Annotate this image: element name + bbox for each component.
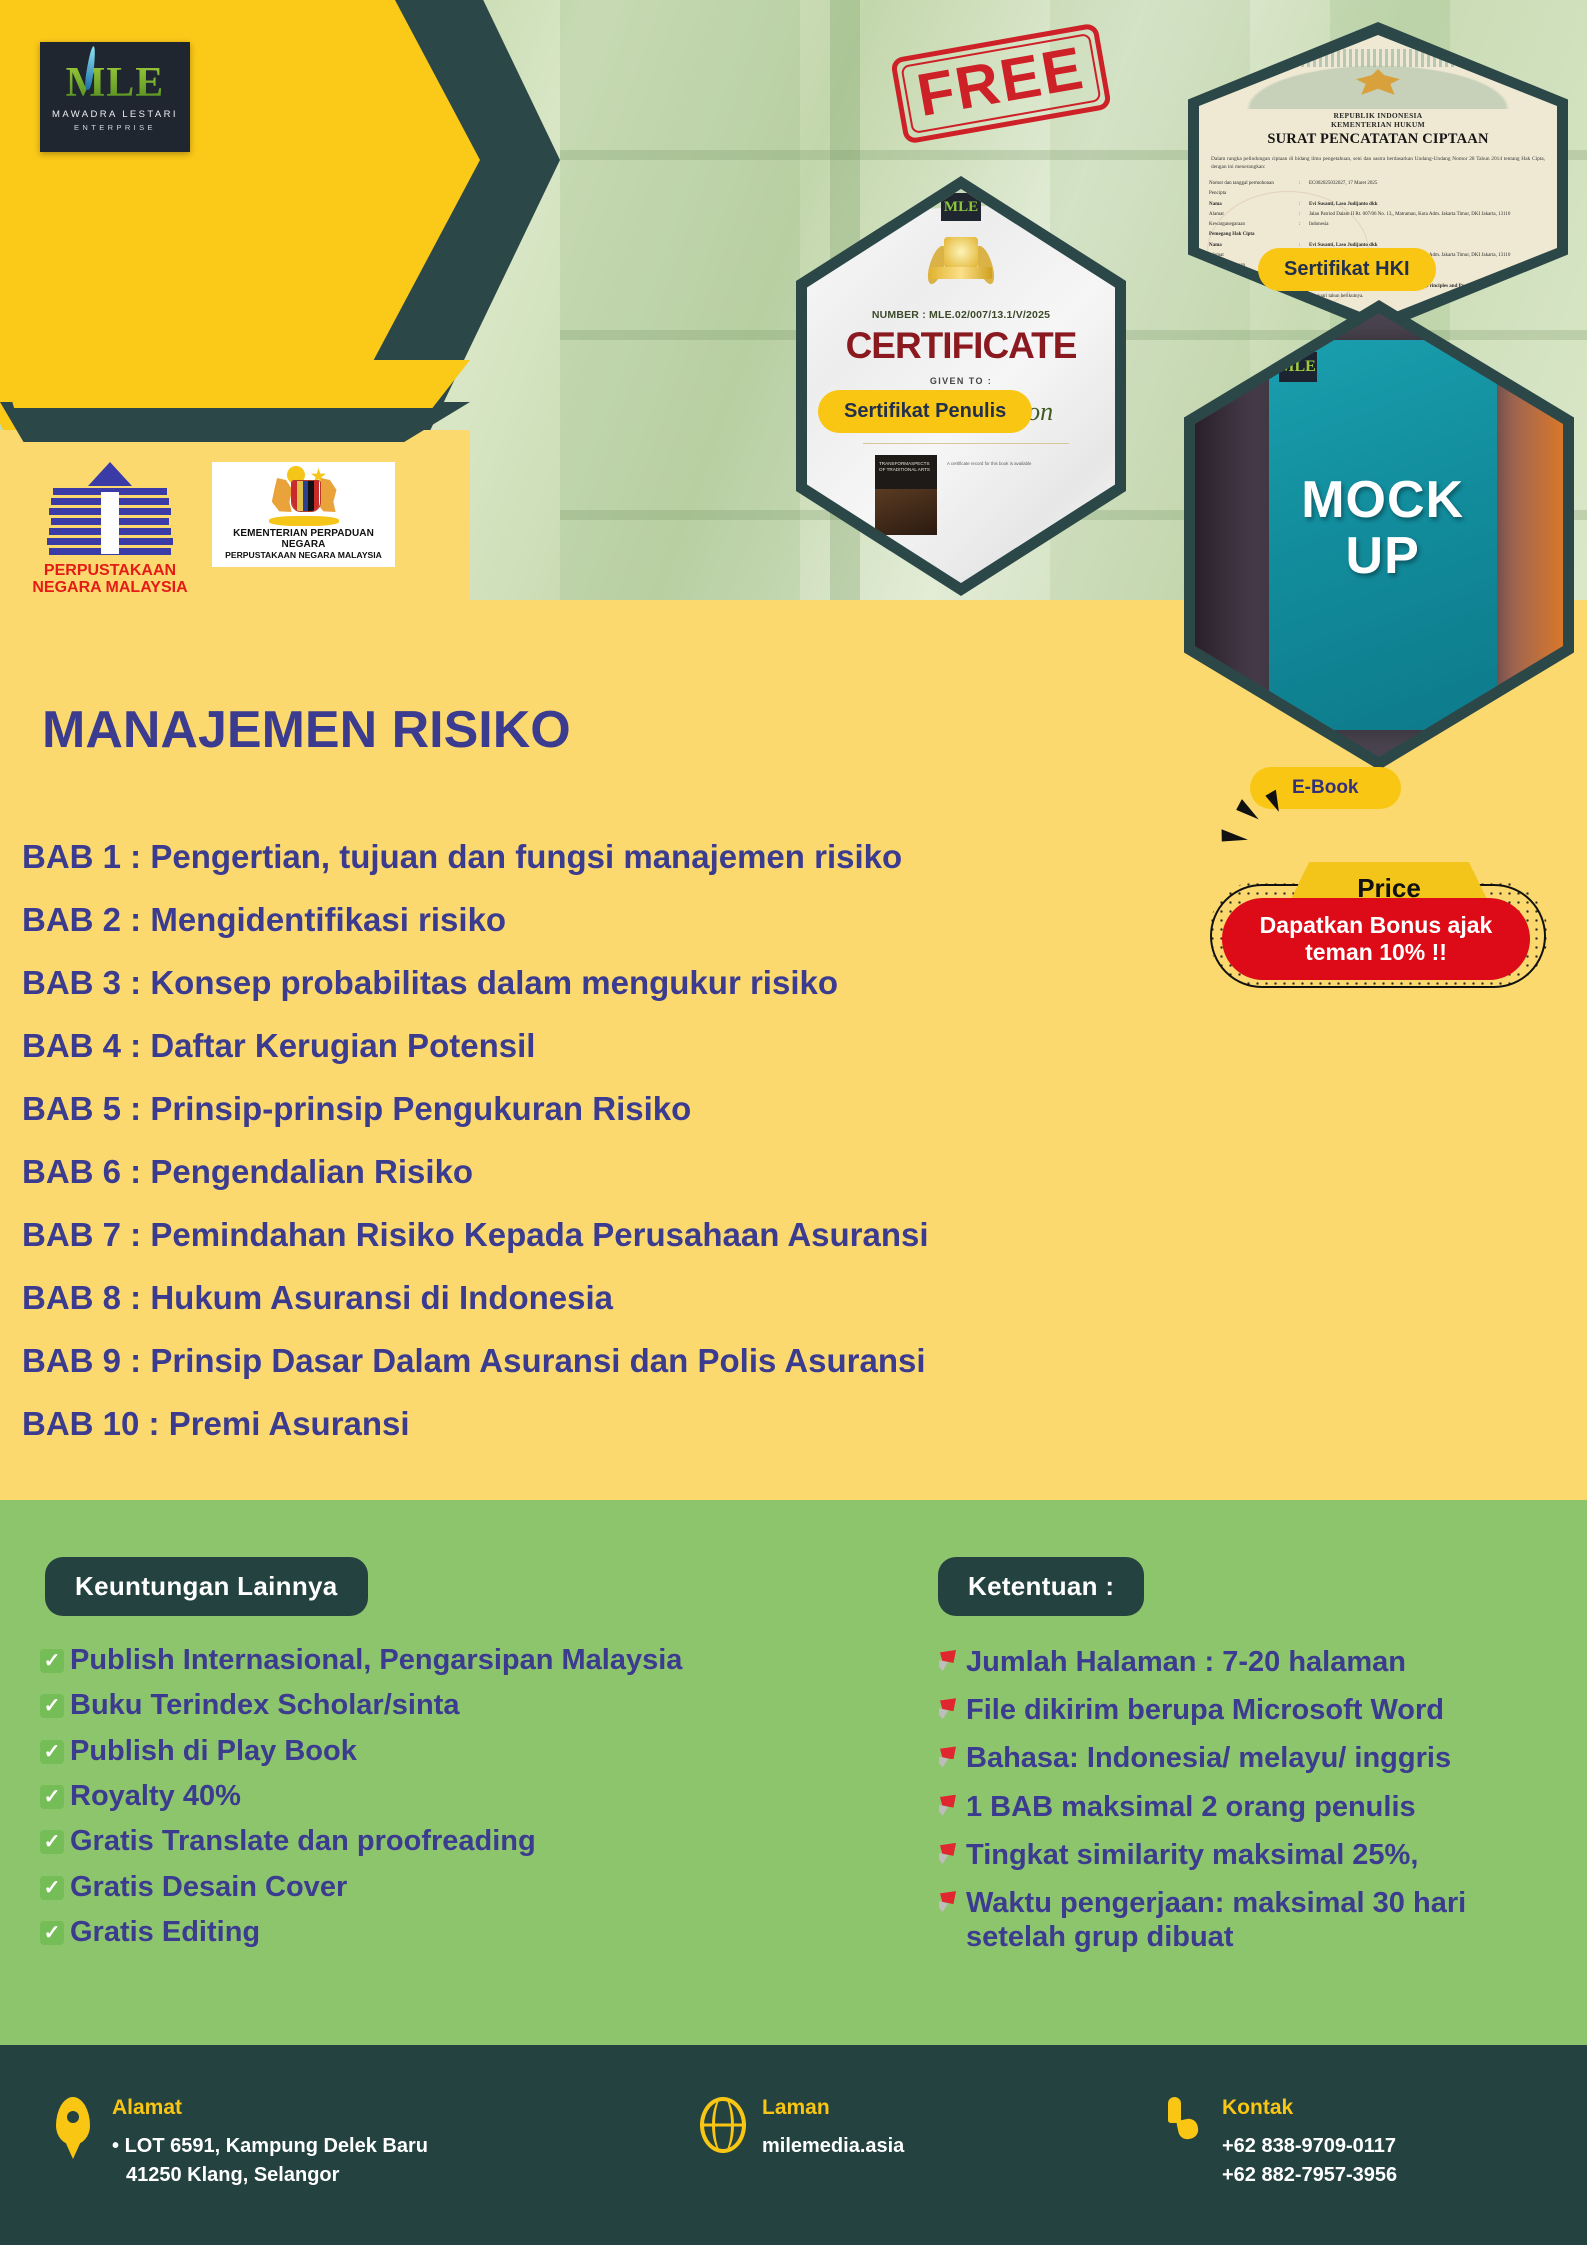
term-item: Waktu pengerjaan: maksimal 30 hari setel… xyxy=(936,1886,1566,1954)
hki-row-colon: : xyxy=(1299,202,1305,209)
benefit-item: ✓Gratis Editing xyxy=(40,1917,860,1948)
certificate-logo: MLE xyxy=(941,193,981,221)
hki-detail-row: Pemegang Hak Cipta xyxy=(1209,232,1547,239)
term-item: Tingkat similarity maksimal 25%, xyxy=(936,1838,1566,1872)
hki-row-colon: : xyxy=(1299,181,1305,188)
term-label: Tingkat similarity maksimal 25%, xyxy=(966,1838,1418,1872)
globe-icon xyxy=(700,2097,746,2153)
chapter-item: BAB 5 : Prinsip-prinsip Pengukuran Risik… xyxy=(22,1092,1252,1125)
mockup-text-line2: UP xyxy=(1269,526,1497,586)
perpustakaan-negara-malaysia-logo: PERPUSTAKAAN NEGARA MALAYSIA xyxy=(30,462,190,597)
chapter-item: BAB 6 : Pengendalian Risiko xyxy=(22,1155,1252,1188)
hki-paragraph: Dalam rangka pelindungan ciptaan di bida… xyxy=(1211,155,1545,171)
pnm-label: PERPUSTAKAAN NEGARA MALAYSIA xyxy=(32,563,187,597)
chapter-item: BAB 9 : Prinsip Dasar Dalam Asuransi dan… xyxy=(22,1344,1252,1377)
award-shield-icon xyxy=(930,237,992,295)
footer-contact-label: Kontak xyxy=(1222,2097,1397,2118)
term-label: Bahasa: Indonesia/ melayu/ inggris xyxy=(966,1741,1451,1775)
footer-web-value[interactable]: milemedia.asia xyxy=(762,2132,904,2161)
benefit-item: ✓Publish di Play Book xyxy=(40,1736,860,1767)
hki-row-key: Pencipta xyxy=(1209,191,1295,198)
hki-detail-row: Pencipta xyxy=(1209,191,1547,198)
term-label: Waktu pengerjaan: maksimal 30 hari setel… xyxy=(966,1886,1566,1954)
footer-address-label: Alamat xyxy=(112,2097,428,2118)
pushpin-icon xyxy=(936,1649,962,1675)
phone-icon xyxy=(1160,2097,1206,2143)
footer-phone-2[interactable]: +62 882-7957-3956 xyxy=(1222,2161,1397,2190)
kpn-label-line2: PERPUSTAKAAN NEGARA MALAYSIA xyxy=(225,551,382,560)
ebook-cover: MLE MOCK UP xyxy=(1269,340,1497,731)
benefit-item: ✓Gratis Translate dan proofreading xyxy=(40,1826,860,1857)
footer-bar: Alamat LOT 6591, Kampung Delek Baru 4125… xyxy=(0,2045,1587,2245)
chapter-list: BAB 1 : Pengertian, tujuan dan fungsi ma… xyxy=(22,840,1252,1470)
benefit-label: Royalty 40% xyxy=(70,1781,241,1812)
benefit-label: Gratis Translate dan proofreading xyxy=(70,1826,536,1857)
check-icon: ✓ xyxy=(40,1649,64,1673)
term-item: File dikirim berupa Microsoft Word xyxy=(936,1693,1566,1727)
certificate-book-thumbnail: TRANSFORMASPECTS OF TRADITIONAL ARTS xyxy=(875,455,937,535)
chapter-item: BAB 4 : Daftar Kerugian Potensil xyxy=(22,1029,1252,1062)
chapter-item: BAB 8 : Hukum Asuransi di Indonesia xyxy=(22,1281,1252,1314)
library-building-icon xyxy=(45,462,175,562)
logo-subtitle-2: ENTERPRISE xyxy=(74,123,156,132)
chapter-item: BAB 7 : Pemindahan Risiko Kepada Perusah… xyxy=(22,1218,1252,1251)
certificate-heading: CERTIFICATE xyxy=(807,325,1115,367)
hki-header-2: KEMENTERIAN HUKUM xyxy=(1331,120,1425,129)
footer-web-label: Laman xyxy=(762,2097,904,2118)
malaysia-crest-icon xyxy=(269,468,339,528)
hki-row-value: EC002025032027, 17 Maret 2025 xyxy=(1309,181,1547,188)
check-icon: ✓ xyxy=(40,1785,64,1809)
logo-subtitle-1: MAWADRA LESTARI xyxy=(52,109,178,120)
term-item: 1 BAB maksimal 2 orang penulis xyxy=(936,1790,1566,1824)
yellow-accent-strip xyxy=(0,360,470,408)
pushpin-icon xyxy=(936,1794,962,1820)
hki-detail-row: Nama:Evi Susanti, Laso Judijanto dkk xyxy=(1209,202,1547,209)
price-bonus-bubble: Dapatkan Bonus ajak teman 10% !! xyxy=(1222,898,1530,980)
footer-address-line1: LOT 6591, Kampung Delek Baru xyxy=(112,2132,428,2161)
mockup-scene: MLE MOCK UP xyxy=(1195,313,1563,757)
chapter-item: BAB 10 : Premi Asuransi xyxy=(22,1407,1252,1440)
price-callout: Price Dapatkan Bonus ajak teman 10% !! xyxy=(1216,862,1556,992)
hki-issuer: REPUBLIK INDONESIA KEMENTERIAN HUKUM xyxy=(1199,111,1557,130)
check-icon: ✓ xyxy=(40,1694,64,1718)
partner-logos: PERPUSTAKAAN NEGARA MALAYSIA KEMENTERIAN… xyxy=(30,462,395,597)
pnm-label-line1: PERPUSTAKAAN xyxy=(44,562,176,579)
certificate-given-to-label: GIVEN TO : xyxy=(807,376,1115,386)
benefit-item: ✓Royalty 40% xyxy=(40,1781,860,1812)
author-certificate-frame: MLE NUMBER : MLE.02/007/13.1/V/2025 CERT… xyxy=(796,176,1126,596)
check-icon: ✓ xyxy=(40,1830,64,1854)
page-title: MANAJEMEN RISIKO xyxy=(42,700,571,760)
hki-row-key: Pemegang Hak Cipta xyxy=(1209,232,1295,239)
pushpin-icon xyxy=(936,1890,962,1916)
hki-detail-row: Nomor dan tanggal permohonan:EC002025032… xyxy=(1209,181,1547,188)
certificate-number: NUMBER : MLE.02/007/13.1/V/2025 xyxy=(807,309,1115,321)
term-item: Bahasa: Indonesia/ melayu/ inggris xyxy=(936,1741,1566,1775)
benefit-label: Gratis Editing xyxy=(70,1917,260,1948)
benefit-label: Gratis Desain Cover xyxy=(70,1872,347,1903)
benefit-item: ✓Publish Internasional, Pengarsipan Mala… xyxy=(40,1645,860,1676)
poster-root: MLE MAWADRA LESTARI ENTERPRISE PERPUSTAK… xyxy=(0,0,1587,2245)
price-bonus-line2: teman 10% !! xyxy=(1305,940,1447,965)
certificate-book-note: A certificate record for this book is av… xyxy=(947,461,1101,468)
chapter-item: BAB 1 : Pengertian, tujuan dan fungsi ma… xyxy=(22,840,1252,873)
terms-heading: Ketentuan : xyxy=(938,1557,1144,1616)
term-label: File dikirim berupa Microsoft Word xyxy=(966,1693,1444,1727)
certificate-book-title: TRANSFORMASPECTS OF TRADITIONAL ARTS xyxy=(879,461,933,472)
footer-address-line2: 41250 Klang, Selangor xyxy=(112,2161,428,2190)
hki-row-value: Indonesia xyxy=(1309,222,1547,229)
benefit-label: Publish Internasional, Pengarsipan Malay… xyxy=(70,1645,682,1676)
mockup-text-line1: MOCK xyxy=(1269,470,1497,530)
benefit-label: Publish di Play Book xyxy=(70,1736,357,1767)
footer-website-block: Laman milemedia.asia xyxy=(700,2097,904,2161)
kpn-label-line1: KEMENTERIAN PERPADUAN NEGARA xyxy=(216,528,391,550)
price-bonus-line1: Dapatkan Bonus ajak xyxy=(1260,913,1493,938)
certificate-page: MLE NUMBER : MLE.02/007/13.1/V/2025 CERT… xyxy=(807,189,1115,583)
footer-address-block: Alamat LOT 6591, Kampung Delek Baru 4125… xyxy=(50,2097,428,2190)
logo-mle-text: MLE xyxy=(66,62,165,104)
check-icon: ✓ xyxy=(40,1876,64,1900)
term-label: Jumlah Halaman : 7-20 halaman xyxy=(966,1645,1406,1679)
footer-contact-block: Kontak +62 838-9709-0117 +62 882-7957-39… xyxy=(1160,2097,1397,2190)
hki-row-colon: : xyxy=(1299,222,1305,229)
footer-phone-1[interactable]: +62 838-9709-0117 xyxy=(1222,2132,1397,2161)
kementerian-perpaduan-negara-logo: KEMENTERIAN PERPADUAN NEGARA PERPUSTAKAA… xyxy=(212,462,395,567)
benefit-item: ✓Gratis Desain Cover xyxy=(40,1872,860,1903)
location-pin-icon xyxy=(50,2097,96,2145)
hki-detail-row: Kewarganegaraan:Indonesia xyxy=(1209,222,1547,229)
hki-row-colon: : xyxy=(1299,212,1305,219)
chapter-item: BAB 2 : Mengidentifikasi risiko xyxy=(22,903,1252,936)
hki-header-1: REPUBLIK INDONESIA xyxy=(1334,111,1423,120)
benefits-list: ✓Publish Internasional, Pengarsipan Mala… xyxy=(40,1645,860,1962)
hki-row-value: Evi Susanti, Laso Judijanto dkk xyxy=(1309,202,1547,209)
benefits-heading: Keuntungan Lainnya xyxy=(45,1557,368,1616)
hki-row-value xyxy=(1309,232,1547,239)
hki-row-key: Nama xyxy=(1209,202,1295,209)
hki-row-key: Kewarganegaraan xyxy=(1209,222,1295,229)
hki-row-colon xyxy=(1299,232,1305,239)
hki-row-value: Jalan Patriod Dalam II Rt. 007/06 No. 13… xyxy=(1309,212,1547,219)
benefit-item: ✓Buku Terindex Scholar/sinta xyxy=(40,1690,860,1721)
check-icon: ✓ xyxy=(40,1921,64,1945)
hki-title: SURAT PENCATATAN CIPTAAN xyxy=(1199,131,1557,148)
pushpin-icon xyxy=(936,1745,962,1771)
benefit-label: Buku Terindex Scholar/sinta xyxy=(70,1690,459,1721)
pushpin-icon xyxy=(936,1842,962,1868)
pnm-label-line2: NEGARA MALAYSIA xyxy=(32,579,187,596)
hki-row-value xyxy=(1309,191,1547,198)
hki-row-key: Alamat xyxy=(1209,212,1295,219)
ebook-mockup-frame: MLE MOCK UP xyxy=(1184,300,1574,770)
terms-list: Jumlah Halaman : 7-20 halamanFile dikiri… xyxy=(936,1645,1566,1969)
dark-accent-strip xyxy=(0,402,470,442)
hki-detail-row: Alamat:Jalan Patriod Dalam II Rt. 007/06… xyxy=(1209,212,1547,219)
term-item: Jumlah Halaman : 7-20 halaman xyxy=(936,1645,1566,1679)
mockup-logo: MLE xyxy=(1279,352,1317,382)
chapter-item: BAB 3 : Konsep probabilitas dalam menguk… xyxy=(22,966,1252,999)
certificate-logo-text: MLE xyxy=(944,199,978,216)
company-logo: MLE MAWADRA LESTARI ENTERPRISE xyxy=(40,42,190,152)
hki-row-key: Nomor dan tanggal permohonan xyxy=(1209,181,1295,188)
check-icon: ✓ xyxy=(40,1740,64,1764)
hki-row-colon xyxy=(1299,191,1305,198)
pushpin-icon xyxy=(936,1697,962,1723)
badge-sertifikat-hki[interactable]: Sertifikat HKI xyxy=(1258,248,1436,291)
bookshelf-panel xyxy=(560,0,800,640)
term-label: 1 BAB maksimal 2 orang penulis xyxy=(966,1790,1416,1824)
badge-sertifikat-penulis[interactable]: Sertifikat Penulis xyxy=(818,390,1032,433)
